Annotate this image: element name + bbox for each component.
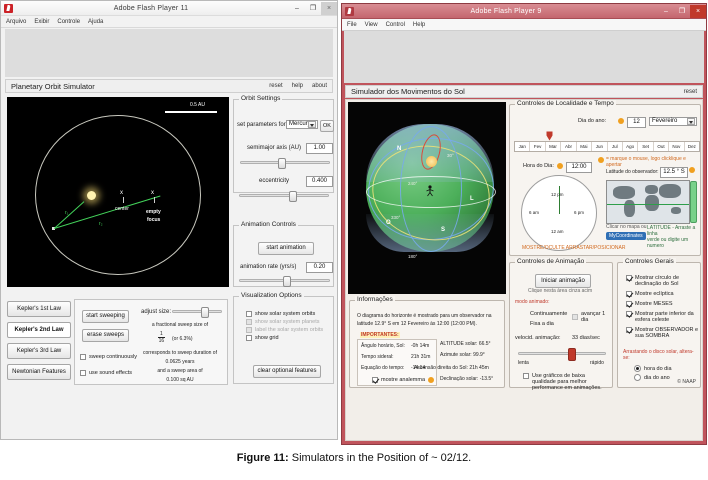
world-map[interactable] (606, 180, 690, 224)
month-bar[interactable]: Jan Fev Mar Abr Mai Jun Jul Ago Set Out … (514, 141, 700, 152)
animation-panel: Controles de Animação Iniciar animação C… (509, 262, 613, 388)
radio-row-day-of-year[interactable]: dia do ano (634, 374, 670, 381)
app-links: reset help about (269, 83, 327, 89)
continent-asia (659, 184, 681, 198)
right-reset-link[interactable]: reset (684, 89, 697, 95)
orbit-ellipse (35, 115, 201, 275)
right-window-title: Adobe Flash Player 9 (354, 8, 658, 15)
show-grid-label: show grid (255, 335, 279, 341)
latitude-marker-icon (689, 167, 695, 173)
solar-declination-label: Declinação solar: (440, 376, 478, 382)
sweep-fraction-percent: (or 6.3%) (172, 336, 193, 342)
label-solar-system-orbits-label: label the solar system orbits (255, 327, 323, 333)
day-of-year-input[interactable]: 12 (627, 117, 646, 128)
lower-hemisphere-checkbox[interactable] (626, 311, 632, 317)
checkbox-row-observer-shadow[interactable]: Mostrar OBSERVADOR e sua SOMBRA (626, 327, 700, 339)
eccentricity-slider[interactable] (239, 191, 329, 200)
map-caption-left: Clicar no mapa ou (606, 224, 647, 230)
menu-ajuda[interactable]: Ajuda (88, 19, 103, 25)
show-solar-system-planets-label: show solar system planets (255, 319, 320, 325)
checkbox-row-show-grid[interactable]: show grid (246, 335, 323, 341)
hour-angle-value: -0h 14m (411, 343, 429, 349)
month-ago[interactable]: Ago (623, 142, 638, 151)
flash-icon (345, 7, 354, 16)
show-solar-system-planets-checkbox (246, 319, 252, 325)
animation-mode-continuous-label: Continuamente (530, 311, 567, 317)
semimajor-axis-input[interactable]: 1.00 (306, 143, 333, 154)
right-app-header: Simulador dos Movimentos do Sol reset (345, 85, 703, 98)
empty-focus-label-line1: empty (146, 209, 161, 215)
right-window-buttons: – ❐ × (658, 5, 706, 18)
right-titlebar: Adobe Flash Player 9 – ❐ × (342, 4, 706, 19)
maximize-button[interactable]: ❐ (305, 2, 321, 15)
animation-rate-slider[interactable] (239, 276, 330, 285)
checkbox-row-declination-circle[interactable]: Mostrar círculo de declinação do Sol (626, 275, 700, 287)
continent-europe (645, 185, 658, 194)
close-button[interactable]: × (690, 5, 706, 18)
radio-row-hour-of-day[interactable]: hora do dia (634, 365, 672, 372)
checkbox-row-low-quality[interactable]: Use gráficos de baixa qualidade para mel… (523, 373, 609, 391)
degree-label-s: 180° (408, 254, 417, 259)
hour-marker-icon (557, 163, 563, 169)
checkbox-row-use-sound-effects[interactable]: use sound effects (80, 370, 132, 376)
menu-controle[interactable]: Controle (57, 19, 80, 25)
clock-label-top: 12 pm (551, 192, 564, 197)
animation-speed-fast-label: rápido (590, 360, 604, 366)
right-stage-blank-area (344, 31, 704, 83)
solar-altitude-row: ALTITUDE solar: 66.5° (440, 341, 493, 347)
solar-azimuth-row: Azimute solar: 99.9° (440, 352, 493, 358)
flash-player-window-left: Adobe Flash Player 11 – ❐ × Arquivo Exib… (0, 0, 338, 440)
figure-caption-label: Figure 11: (237, 452, 289, 464)
animation-mode-fixed-day[interactable]: Fixa a dia (530, 321, 554, 327)
slider-thumb[interactable] (201, 307, 209, 318)
month-jun[interactable]: Jun (592, 142, 607, 151)
south-label: S (441, 227, 445, 233)
right-page-title: Simulador dos Movimentos do Sol (351, 87, 684, 96)
month-pointer-icon (546, 129, 552, 139)
naap-credit: © NAAP (677, 379, 696, 385)
animation-speed-slow-label: lenta (518, 360, 529, 366)
about-link[interactable]: about (312, 83, 327, 89)
left-menubar: Arquivo Exibir Controle Ajuda (1, 16, 337, 28)
label-solar-system-orbits-checkbox (246, 327, 252, 333)
right-ascension-label: Ascensão direita do Sol: (414, 365, 468, 371)
adjust-size-label: adjust size: (141, 309, 171, 315)
r2-label: r₂ (99, 221, 103, 227)
show-solar-system-orbits-label: show solar system orbits (255, 311, 315, 317)
set-parameters-label: set parameters for: (237, 122, 287, 128)
locality-footer-note: MOSTRE/OCULTE ARRASTAR/POSICIONAR (522, 245, 625, 251)
start-animation-button[interactable]: start animation (258, 242, 314, 255)
ecliptic-checkbox[interactable] (626, 291, 632, 297)
visualization-options-panel: Visualization Options show solar system … (233, 296, 334, 384)
observer-figure (425, 184, 435, 196)
latitude-input[interactable]: 12.5 ° S (660, 167, 688, 178)
ecliptic-label: Mostre eclíptica (635, 291, 674, 297)
sweep-text-line2: corresponds to sweep duration of (131, 350, 229, 356)
animation-hint: Clique nesta área cinza acim (528, 288, 592, 294)
info-desc-line2: latitude 12.9° S em 12 Fevereiro às 12:0… (357, 321, 477, 327)
clock-hand[interactable] (559, 186, 561, 214)
latitude-slider[interactable] (690, 181, 697, 223)
animation-panel-title: Controles de Animação (515, 258, 586, 265)
animation-mode-advance-day[interactable]: avançar 1 dia (572, 311, 612, 323)
sweep-continuously-label: sweep continuously (89, 354, 137, 360)
menu-control[interactable]: Control (386, 22, 405, 28)
info-important-label: IMPORTANTES: (360, 332, 400, 338)
scale-label: 0.5 AU (190, 102, 205, 108)
solar-altitude-label: ALTITUDE solar: (440, 341, 477, 347)
menu-file[interactable]: File (347, 22, 357, 28)
flash-icon (4, 4, 13, 13)
clear-optional-features-button[interactable]: clear optional features (253, 365, 321, 378)
planet-select[interactable]: Mercury (286, 120, 318, 129)
checkbox-row-sweep-continuously[interactable]: sweep continuously (80, 354, 137, 360)
checkbox-row-show-analemma[interactable]: mostre analemma (372, 377, 434, 383)
month-select-value: Fevereiro (652, 117, 677, 126)
sweep-text-line1: a fractional sweep size of (135, 322, 225, 328)
start-sweeping-button[interactable]: start sweeping (82, 310, 129, 323)
continent-australia (671, 207, 681, 214)
slider-track (172, 310, 222, 313)
animation-speed-label: velocid. animação: (515, 335, 561, 341)
sun-marker (87, 191, 96, 200)
use-sound-effects-label: use sound effects (89, 370, 132, 376)
checkbox-row-lower-hemisphere[interactable]: Mostrar parte inferior da esfera celeste (626, 311, 700, 323)
right-ascension-row: Ascensão direita do Sol: 21h 45m (414, 365, 493, 371)
center-mark: x (120, 190, 123, 196)
north-label: N (397, 146, 401, 152)
clock-label-right: 6 pm (574, 210, 584, 215)
r1-label: r₁ (65, 210, 68, 216)
checkbox-row-ecliptic[interactable]: Mostre eclíptica (626, 291, 700, 297)
left-app-header: Planetary Orbit Simulator reset help abo… (5, 79, 333, 93)
slider-track (518, 352, 606, 355)
solar-azimuth-value: 99.9° (473, 352, 485, 358)
latitude-line[interactable] (607, 204, 689, 205)
orbit-settings-panel: Orbit Settings set parameters for: Mercu… (233, 99, 334, 193)
hour-of-day-label: Hora do Dia: (523, 163, 554, 169)
month-dez[interactable]: Dez (685, 142, 699, 151)
info-left-box: Ângulo horário, Sol: -0h 14m Tempo sider… (357, 339, 437, 386)
scale-bar (165, 111, 217, 113)
solar-altitude-value: 66.5° (479, 341, 491, 347)
solar-azimuth-label: Azimute solar: (440, 352, 472, 358)
hour-clock-dial[interactable]: 12 pm 6 pm 12 am 6 am (521, 175, 597, 251)
observer-shadow-checkbox[interactable] (626, 327, 632, 333)
semimajor-axis-slider[interactable] (240, 158, 330, 167)
celestial-sphere-canvas[interactable]: N S L O 30° 330° 240° 180° (348, 102, 506, 294)
slider-track (239, 194, 329, 197)
day-of-year-radio[interactable] (634, 374, 641, 381)
sun-motions-simulator-body: N S L O 30° 330° 240° 180° Controles de … (345, 99, 703, 441)
low-quality-graphics-checkbox[interactable] (523, 373, 529, 379)
figure-caption: Figure 11: Simulators in the Position of… (0, 452, 708, 464)
general-controls-panel: Controles Gerais Mostrar círculo de decl… (617, 262, 701, 388)
help-link[interactable]: help (292, 83, 303, 89)
animation-mode-fixed-day-label: Fixa a dia (530, 321, 554, 327)
minimize-button[interactable]: – (289, 2, 305, 15)
semimajor-axis-label: semimajor axis (AU) (247, 145, 301, 151)
sweep-continuously-checkbox[interactable] (80, 354, 86, 360)
sweep-fraction: 1 16 (158, 331, 165, 344)
right-ascension-value: 21h 45m (469, 365, 488, 371)
animation-speed-value: 33 dias/sec (572, 335, 600, 341)
month-out[interactable]: Out (654, 142, 669, 151)
left-window-title: Adobe Flash Player 11 (13, 5, 289, 12)
analemma-marker-icon (428, 377, 434, 383)
latitude-label: Latitude do observador: (606, 169, 659, 175)
animation-rate-label: animation rate (yrs/s) (240, 264, 296, 270)
planet-select-value: Mercury (289, 120, 311, 129)
right-menubar: File View Control Help (342, 19, 706, 31)
maximize-button[interactable]: ❐ (674, 5, 690, 18)
info-right-rows: ALTITUDE solar: 66.5° Azimute solar: 99.… (440, 341, 493, 382)
newtonian-features-button[interactable]: Newtonian Features (7, 364, 71, 380)
checkbox-row-show-solar-system-orbits[interactable]: show solar system orbits (246, 311, 323, 317)
locality-time-panel: Controles de Localidade e Tempo Dia do a… (509, 104, 701, 256)
menu-help[interactable]: Help (413, 22, 425, 28)
sweep-size-slider[interactable] (172, 307, 222, 316)
figure-page: Adobe Flash Player 11 – ❐ × Arquivo Exib… (0, 0, 708, 480)
sweep-text-line3: and a sweep area of (131, 368, 229, 374)
sidereal-time-label: Tempo sideral: (361, 354, 394, 360)
sweep-duration-value: 0.0625 years (131, 359, 229, 365)
center-tick (123, 197, 124, 203)
checkbox-row-months[interactable]: Mostre MESES (626, 301, 700, 307)
month-abr[interactable]: Abr (561, 142, 576, 151)
animation-controls-title: Animation Controls (239, 221, 298, 228)
solar-declination-row: Declinação solar: -13.5° (440, 376, 493, 382)
ok-button[interactable]: OK (320, 120, 334, 132)
info-desc-line1: O diagrama do horizonte é mostrado para … (357, 313, 492, 319)
degree-label-ne: 30° (447, 153, 454, 158)
months-checkbox[interactable] (626, 301, 632, 307)
declination-circle-label: Mostrar círculo de declinação do Sol (635, 275, 700, 287)
eccentricity-input[interactable]: 0.400 (306, 176, 333, 187)
locality-panel-title: Controles de Localidade e Tempo (515, 100, 616, 107)
left-window-buttons: – ❐ × (289, 2, 337, 15)
note-marker-icon (598, 157, 604, 163)
menu-view[interactable]: View (365, 22, 378, 28)
month-jan[interactable]: Jan (515, 142, 530, 151)
month-mar[interactable]: Mar (546, 142, 561, 151)
observer-shadow-label: Mostrar OBSERVADOR e sua SOMBRA (635, 327, 700, 339)
page-title: Planetary Orbit Simulator (11, 82, 269, 91)
empty-focus-tick (154, 197, 155, 203)
animation-speed-slider[interactable] (518, 349, 606, 358)
show-analemma-label: mostre analemma (381, 377, 425, 383)
day-of-year-label: Dia do ano: (578, 118, 606, 124)
orbit-canvas[interactable]: 0.5 AU r₁ r₂ x center x empty focus (7, 97, 229, 287)
month-mai[interactable]: Mai (577, 142, 592, 151)
close-button[interactable]: × (321, 2, 337, 15)
menu-exibir[interactable]: Exibir (34, 19, 49, 25)
animation-controls-panel: Animation Controls start animation anima… (233, 225, 334, 287)
left-stage-blank-area (5, 29, 333, 77)
slider-thumb[interactable] (278, 158, 286, 169)
drag-sun-label: Arrastando o disco solar, altera-se: (623, 349, 699, 361)
eccentricity-label: eccentricity (259, 178, 289, 184)
declination-circle-checkbox[interactable] (626, 275, 632, 281)
menu-arquivo[interactable]: Arquivo (6, 19, 26, 25)
animation-mode-advance-day-label: avançar 1 dia (581, 311, 612, 323)
continent-north-america (613, 186, 635, 199)
equation-of-time-label: Equação do tempo: (361, 365, 404, 371)
keplers-2nd-law-button[interactable]: Kepler's 2nd Law (7, 322, 71, 338)
info-panel: Informações O diagrama do horizonte é mo… (349, 300, 505, 388)
show-solar-system-orbits-checkbox[interactable] (246, 311, 252, 317)
solar-declination-value: -13.5° (480, 376, 493, 382)
figure-caption-text: Simulators in the Position of ~ 02/12. (289, 452, 472, 464)
hour-of-day-radio-label: hora do dia (644, 366, 672, 372)
continent-africa (645, 195, 659, 211)
slider-thumb[interactable] (283, 276, 291, 287)
month-fev[interactable]: Fev (530, 142, 545, 151)
sweep-area-value: 0.100 sq AU (131, 377, 229, 383)
minimize-button[interactable]: – (658, 5, 674, 18)
west-label: O (386, 220, 391, 226)
sweep-fraction-denominator: 16 (158, 338, 165, 344)
hour-of-day-input[interactable]: 12:00 (566, 162, 592, 173)
empty-focus-label-line2: focus (147, 217, 160, 223)
hour-of-day-radio[interactable] (634, 365, 641, 372)
reset-link[interactable]: reset (269, 83, 282, 89)
general-panel-title: Controles Gerais (623, 258, 676, 265)
animation-rate-input[interactable]: 0.20 (306, 262, 333, 273)
sweep-panel: start sweeping erase sweeps sweep contin… (74, 299, 228, 385)
orbit-settings-title: Orbit Settings (239, 95, 282, 102)
month-select[interactable]: Fevereiro (649, 117, 697, 126)
show-analemma-checkbox[interactable] (372, 377, 378, 383)
erase-sweeps-button[interactable]: erase sweeps (82, 329, 129, 342)
continent-south-america (624, 200, 635, 217)
month-set[interactable]: Set (638, 142, 653, 151)
clock-label-bottom: 12 am (551, 229, 564, 234)
visualization-options-title: Visualization Options (239, 292, 304, 299)
month-nov[interactable]: Nov (669, 142, 684, 151)
empty-focus-mark: x (151, 190, 154, 196)
center-label: center (115, 206, 129, 212)
observer-icon (425, 185, 435, 197)
day-marker-icon (618, 118, 624, 124)
law-button-group: Kepler's 1st Law Kepler's 2nd Law Kepler… (7, 301, 69, 380)
east-label: L (470, 196, 474, 202)
months-label: Mostre MESES (635, 301, 673, 307)
animation-mode-continuous[interactable]: Continuamente (530, 311, 567, 317)
slider-thumb[interactable] (568, 348, 576, 361)
show-grid-checkbox[interactable] (246, 335, 252, 341)
start-animation-button-right[interactable]: Iniciar animação (535, 274, 591, 288)
map-caption-right: LATITUDE - Arraste a linha verde ou digi… (647, 225, 699, 249)
left-titlebar: Adobe Flash Player 11 – ❐ × (1, 1, 337, 16)
sweep-fraction-numerator: 1 (158, 331, 165, 338)
month-jul[interactable]: Jul (608, 142, 623, 151)
lower-hemisphere-label: Mostrar parte inferior da esfera celeste (635, 311, 700, 323)
degree-label-nw: 330° (391, 215, 400, 220)
use-sound-effects-checkbox[interactable] (80, 370, 86, 376)
my-coordinates-button[interactable]: MyCoordinates (606, 232, 646, 240)
sidereal-time-value: 21h 31m (411, 354, 430, 360)
low-quality-graphics-label: Use gráficos de baixa qualidade para mel… (532, 373, 609, 391)
hour-angle-label: Ângulo horário, Sol: (361, 343, 405, 349)
slider-thumb[interactable] (289, 191, 297, 202)
day-of-year-radio-label: dia do ano (644, 375, 670, 381)
keplers-3rd-law-button[interactable]: Kepler's 3rd Law (7, 343, 71, 359)
degree-label-sw: 240° (408, 181, 417, 186)
keplers-1st-law-button[interactable]: Kepler's 1st Law (7, 301, 71, 317)
sun-disc[interactable] (426, 156, 437, 167)
advance-one-day-checkbox[interactable] (572, 314, 578, 320)
info-panel-title: Informações (355, 296, 395, 303)
flash-player-window-right: Adobe Flash Player 9 – ❐ × File View Con… (341, 3, 707, 445)
animation-mode-label: modo animado: (515, 299, 549, 305)
checkbox-row-show-solar-system-planets: show solar system planets (246, 319, 323, 325)
checkbox-row-label-solar-system-orbits: label the solar system orbits (246, 327, 323, 333)
clock-label-left: 6 am (529, 210, 539, 215)
